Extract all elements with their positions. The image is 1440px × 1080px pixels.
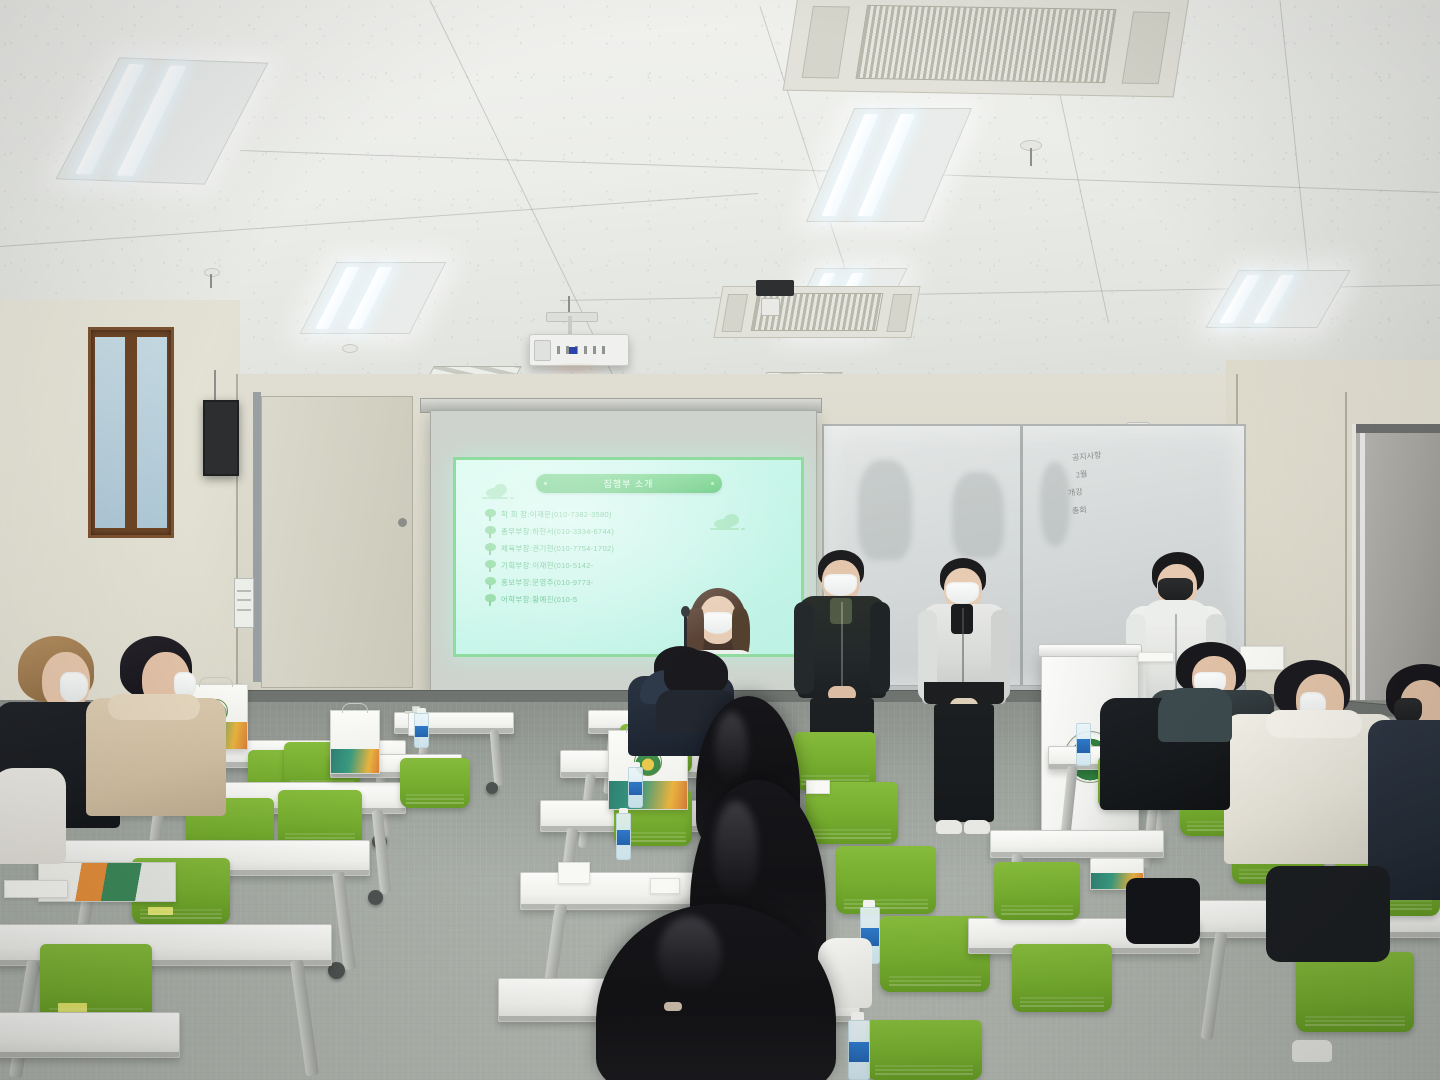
- water-bottle: [1076, 718, 1091, 766]
- bag-handle: [342, 703, 369, 713]
- wall-control-panel: [234, 578, 254, 628]
- presentation-slide: 집행부 소개 학 회 장 : 이재문 (010-7382-3580) 총무부장 …: [453, 457, 804, 657]
- phone-number: (010-5: [554, 595, 577, 604]
- whiteboard-note-1: 공지사항: [1072, 450, 1102, 462]
- smoke-detector: [342, 344, 358, 353]
- backpack-under-table: [1126, 878, 1200, 944]
- chair: [836, 846, 936, 914]
- tree-icon: [484, 594, 497, 606]
- water-bottle: [414, 708, 429, 748]
- left-window: [88, 327, 174, 538]
- chair: [1012, 944, 1112, 1012]
- ac-vane: [721, 294, 747, 332]
- bag-graphic-band: [331, 749, 379, 773]
- person-name: 이재문: [530, 509, 552, 520]
- whiteboard-divider: [1020, 426, 1023, 688]
- table-caster: [486, 782, 498, 794]
- role-label: 학 회 장: [501, 509, 527, 520]
- panel-line: [237, 609, 251, 611]
- classroom-door: [261, 396, 413, 688]
- chair: [400, 758, 470, 808]
- panel-line: [237, 590, 251, 592]
- tv-cable: [214, 370, 216, 404]
- legs: [934, 704, 994, 822]
- chair: [866, 1020, 982, 1080]
- face-mask: [946, 582, 979, 604]
- projector-mount: [546, 312, 598, 322]
- seated-student-dark-jacket-right: [1100, 688, 1230, 818]
- ac-vane: [1122, 11, 1170, 84]
- person-name: 문영주: [532, 577, 554, 588]
- person-name: 이재현: [532, 560, 554, 571]
- seated-student-beige-hoodie: [86, 636, 226, 812]
- phone-number: (010-5142-: [554, 561, 594, 570]
- window-pane: [95, 337, 125, 528]
- hood-collar: [108, 694, 200, 720]
- cloud-decoration-icon: [480, 484, 514, 498]
- role-label: 총무부장: [501, 526, 530, 537]
- shoe: [1292, 1040, 1332, 1062]
- name-card: [4, 880, 68, 898]
- seated-student-leg-right: [1266, 866, 1390, 962]
- door-knob: [398, 518, 407, 527]
- classroom-photo: 공지사항 2월 개강 총회: [0, 0, 1440, 1080]
- door-frame: [253, 392, 261, 682]
- face-mask: [824, 574, 857, 596]
- projection-screen: 집행부 소개 학 회 장 : 이재문 (010-7382-3580) 총무부장 …: [430, 410, 817, 694]
- projector-vga-port: [569, 347, 577, 354]
- tree-icon: [484, 543, 497, 555]
- face-mask-black: [1158, 578, 1193, 602]
- hanging-wire: [210, 274, 212, 288]
- paper-sheet: [650, 878, 680, 894]
- title-dot-right: [711, 482, 714, 485]
- person-name: 하현서: [532, 526, 554, 537]
- jacket-shoulder: [1158, 688, 1232, 742]
- tree-icon: [484, 526, 497, 538]
- projector-ports: [557, 346, 611, 354]
- seated-student-white-sleeve: [0, 768, 66, 864]
- arm-left: [794, 602, 814, 694]
- ac-vane: [886, 294, 912, 332]
- paper-sheet: [558, 862, 590, 884]
- role-label: 체육부장: [501, 543, 530, 554]
- ac-grille: [856, 5, 1117, 84]
- person-name: 황예진: [532, 594, 554, 605]
- slide-title-text: 집행부 소개: [604, 479, 654, 489]
- whiteboard-reflection: [1040, 462, 1070, 546]
- hair-highlight: [658, 916, 720, 994]
- phone-number: (010-7382-3580): [551, 510, 611, 519]
- role-label: 기획부장: [501, 560, 530, 571]
- slide-title-pill: 집행부 소개: [536, 474, 722, 493]
- ceiling-air-conditioner: [783, 0, 1190, 97]
- phone-number: (010-9773-: [554, 578, 594, 587]
- tree-icon: [484, 560, 497, 572]
- table-caster: [368, 890, 383, 905]
- list-item: 학 회 장 : 이재문 (010-7382-3580): [484, 506, 793, 523]
- blind-rail: [1356, 424, 1440, 433]
- camera-lens: [761, 298, 780, 315]
- chair: [1296, 952, 1414, 1032]
- projector-lens: [534, 340, 551, 361]
- tree-icon: [484, 509, 497, 521]
- security-camera: [756, 280, 794, 296]
- face-mask: [60, 672, 88, 702]
- gift-bag: [330, 710, 380, 774]
- collar: [1266, 710, 1362, 738]
- title-dot-left: [544, 482, 547, 485]
- podium-top: [1038, 644, 1142, 657]
- role-label: 홍보부장: [501, 577, 530, 588]
- whiteboard-reflection: [952, 472, 1004, 558]
- water-bottle: [848, 1012, 870, 1080]
- table-edge: [0, 1052, 179, 1057]
- tree-icon: [484, 577, 497, 589]
- hair-highlight: [714, 801, 758, 902]
- whiteboard-note-3: 개강: [1068, 487, 1084, 497]
- wall-mounted-monitor: [203, 400, 239, 476]
- window-pane: [137, 337, 167, 528]
- list-item: 총무부장 : 하현서 (010-3334-6744): [484, 523, 793, 540]
- jacket-zipper: [841, 602, 843, 694]
- water-bottle: [616, 808, 631, 860]
- whiteboard-note-4: 총회: [1072, 505, 1088, 515]
- shoe: [936, 820, 962, 834]
- smoke-detector: [204, 268, 220, 277]
- paper-sheet: [806, 780, 830, 794]
- list-item: 체육부장 : 권기현 (010-7754-1702): [484, 540, 793, 557]
- projector-arm: [568, 316, 572, 336]
- whiteboard-note-2: 2월: [1076, 469, 1088, 479]
- phone-number: (010-7754-1702): [554, 544, 614, 553]
- hanging-wire: [1030, 148, 1032, 166]
- chair: [994, 862, 1080, 920]
- ac-vane: [801, 6, 849, 79]
- hair-highlight: [715, 712, 748, 787]
- microphone-head: [681, 606, 690, 617]
- water-bottle: [628, 762, 643, 808]
- standing-student-grey-jacket: [918, 558, 1010, 836]
- list-item: 기획부장 : 이재현 (010-5142-: [484, 557, 793, 574]
- role-label: 어학부장: [501, 594, 530, 605]
- hair-clip: [664, 1002, 682, 1011]
- panel-line: [237, 599, 251, 601]
- shoe: [964, 820, 990, 834]
- ceiling-air-conditioner: [713, 286, 920, 338]
- table: [0, 1012, 180, 1058]
- presenter-face-mask: [702, 612, 733, 634]
- whiteboard-reflection: [858, 460, 912, 560]
- phone-number: (010-3334-6744): [554, 527, 614, 536]
- arm-right: [870, 602, 890, 694]
- person-name: 권기현: [532, 543, 554, 554]
- bag-graphic-band: [609, 781, 687, 809]
